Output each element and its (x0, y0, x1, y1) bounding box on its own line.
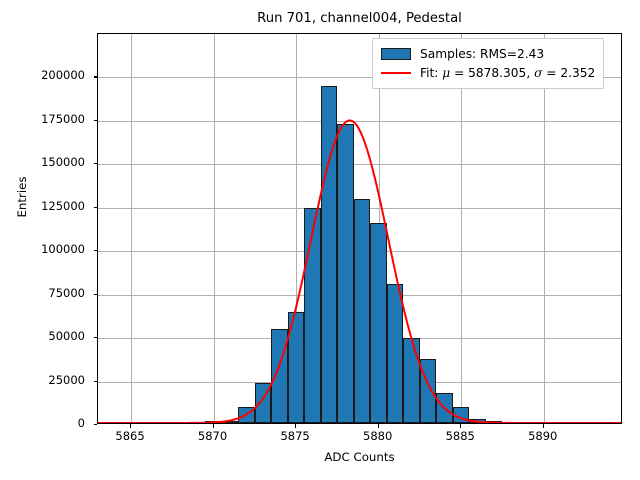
y-tick-label: 175000 (0, 112, 85, 126)
y-tick-label: 25000 (0, 373, 85, 387)
y-tick-mark (94, 163, 98, 164)
x-tick-mark (213, 424, 214, 428)
y-tick-label: 0 (0, 416, 85, 430)
x-tick-mark (460, 424, 461, 428)
y-tick-label: 150000 (0, 155, 85, 169)
legend-item-samples: Samples: RMS=2.43 (381, 44, 595, 63)
chart-title: Run 701, channel004, Pedestal (97, 10, 622, 28)
x-tick-mark (543, 424, 544, 428)
x-tick-mark (130, 424, 131, 428)
chart-legend: Samples: RMS=2.43 Fit: μ = 5878.305, σ =… (372, 38, 604, 89)
x-tick-label: 5890 (513, 429, 573, 443)
y-tick-label: 200000 (0, 68, 85, 82)
legend-swatch-samples-icon (381, 48, 411, 60)
y-tick-label: 50000 (0, 329, 85, 343)
y-tick-label: 125000 (0, 199, 85, 213)
y-tick-label: 75000 (0, 286, 85, 300)
x-tick-mark (295, 424, 296, 428)
y-tick-mark (94, 381, 98, 382)
plot-area (97, 33, 622, 424)
legend-label-samples: Samples: RMS=2.43 (420, 47, 544, 61)
y-tick-mark (94, 120, 98, 121)
y-axis-label: Entries (15, 137, 29, 257)
y-tick-mark (94, 294, 98, 295)
plot-inner (98, 34, 621, 423)
y-tick-mark (94, 337, 98, 338)
legend-swatch-fit-icon (381, 72, 411, 74)
y-tick-label: 100000 (0, 242, 85, 256)
x-tick-mark (378, 424, 379, 428)
y-tick-mark (94, 250, 98, 251)
legend-item-fit: Fit: μ = 5878.305, σ = 2.352 (381, 63, 595, 82)
x-tick-label: 5875 (265, 429, 325, 443)
y-tick-mark (94, 207, 98, 208)
y-tick-mark (94, 424, 98, 425)
y-tick-mark (94, 76, 98, 77)
x-axis-label: ADC Counts (97, 450, 622, 464)
x-tick-label: 5865 (100, 429, 160, 443)
x-tick-label: 5885 (430, 429, 490, 443)
x-tick-label: 5880 (348, 429, 408, 443)
chart-figure: Run 701, channel004, Pedestal 0250005000… (0, 0, 640, 480)
gaussian-fit-curve (98, 34, 621, 423)
x-tick-label: 5870 (183, 429, 243, 443)
legend-label-fit: Fit: μ = 5878.305, σ = 2.352 (420, 66, 595, 80)
